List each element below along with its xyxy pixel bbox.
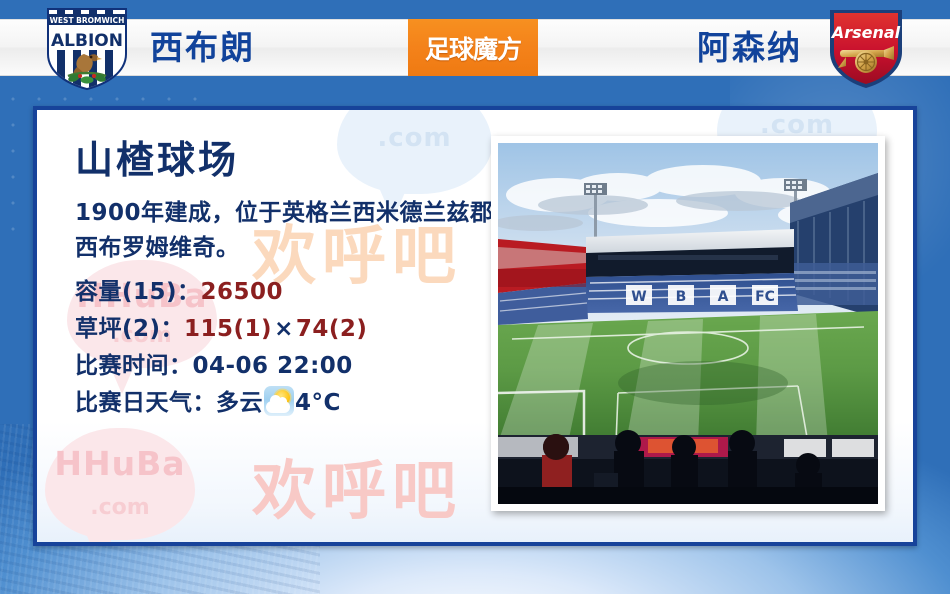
arsenal-badge-icon: Arsenal: [824, 4, 908, 92]
svg-text:A: A: [718, 289, 729, 305]
site-logo-text: 足球魔方: [425, 30, 521, 66]
match-time-value: 04-06 22:00: [193, 353, 353, 379]
svg-text:W: W: [631, 289, 646, 305]
watermark-bubble-bottom-left: HHuBa .com: [45, 428, 195, 540]
away-team-name: 阿森纳: [697, 24, 802, 72]
away-team-crest[interactable]: Arsenal: [824, 4, 908, 96]
match-header: WEST BROMWICH ALBION: [0, 0, 950, 94]
svg-text:ALBION: ALBION: [51, 31, 123, 51]
capacity-label: 容量(15)：: [75, 279, 201, 305]
pitch-width-value: 74(2): [296, 316, 368, 342]
stadium-title: 山楂球场: [75, 140, 505, 182]
watermark-brand-dotcom: .com: [45, 495, 195, 520]
svg-text:FC: FC: [755, 289, 775, 305]
capacity-value: 26500: [201, 279, 284, 305]
card-inner: .com .com HHuBa .com HHuBa .com 欢呼吧 欢呼吧 …: [37, 110, 913, 542]
svg-text:B: B: [676, 289, 687, 305]
pitch-dimension-separator: ×: [272, 316, 296, 342]
home-team-name: 西布朗: [150, 24, 255, 72]
capacity-row: 容量(15)：26500: [75, 274, 505, 311]
match-weather-value: 多云: [216, 390, 263, 416]
svg-text:WEST BROMWICH: WEST BROMWICH: [50, 16, 125, 25]
stadium-description: 1900年建成，位于英格兰西米德兰兹郡西布罗姆维奇。: [75, 196, 505, 266]
stadium-info-card: .com .com HHuBa .com HHuBa .com 欢呼吧 欢呼吧 …: [33, 106, 917, 546]
home-team-crest[interactable]: WEST BROMWICH ALBION: [44, 4, 130, 96]
site-logo[interactable]: 足球魔方: [408, 19, 538, 76]
match-time-label: 比赛时间：: [75, 353, 193, 379]
svg-text:Arsenal: Arsenal: [830, 23, 901, 42]
stadium-info-block: 山楂球场 1900年建成，位于英格兰西米德兰兹郡西布罗姆维奇。 容量(15)：2…: [75, 140, 505, 423]
pitch-label: 草坪(2)：: [75, 316, 184, 342]
sun-behind-cloud-icon: [264, 386, 294, 416]
match-weather-row: 比赛日天气：多云4°C: [75, 385, 505, 422]
page-background: WEST BROMWICH ALBION: [0, 0, 950, 594]
stadium-photo-frame[interactable]: W B A FC: [491, 136, 885, 511]
stadium-photo: W B A FC: [498, 143, 878, 504]
watermark-brand-text: HHuBa: [45, 444, 195, 483]
pitch-row: 草坪(2)：115(1)×74(2): [75, 311, 505, 348]
west-bromwich-albion-badge-icon: WEST BROMWICH ALBION: [44, 4, 130, 92]
match-temperature-value: 4°C: [295, 390, 341, 416]
match-weather-label: 比赛日天气：: [75, 390, 216, 416]
match-time-row: 比赛时间：04-06 22:00: [75, 348, 505, 385]
watermark-brand-cn-bottom: 欢呼吧: [252, 440, 462, 532]
pitch-length-value: 115(1): [184, 316, 272, 342]
